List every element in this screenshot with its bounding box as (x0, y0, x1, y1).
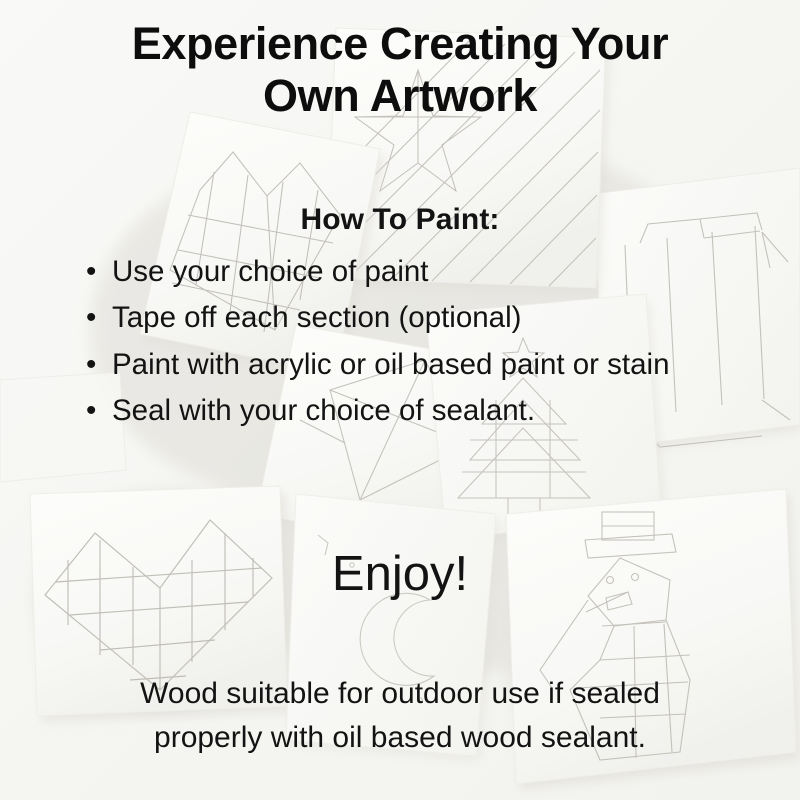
step-text: Paint with acrylic or oil based paint or… (112, 348, 670, 381)
footnote-line-2: properly with oil based wood sealant. (30, 716, 770, 760)
how-to-paint-steps: • Use your choice of paint • Tape off ea… (84, 250, 784, 435)
enjoy-heading: Enjoy! (40, 548, 760, 602)
bullet-icon: • (86, 343, 96, 387)
list-item: • Tape off each section (optional) (84, 296, 784, 340)
list-item: • Paint with acrylic or oil based paint … (84, 343, 784, 387)
how-to-paint-heading: How To Paint: (40, 203, 760, 237)
step-text: Tape off each section (optional) (112, 301, 521, 334)
title-line-1: Experience Creating Your (132, 18, 668, 69)
bullet-icon: • (86, 296, 96, 340)
poster-text-layer: Experience Creating Your Own Artwork How… (0, 0, 800, 800)
title-line-2: Own Artwork (263, 70, 537, 121)
list-item: • Use your choice of paint (84, 250, 784, 294)
list-item: • Seal with your choice of sealant. (84, 389, 784, 433)
page-title: Experience Creating Your Own Artwork (40, 18, 760, 122)
footnote-line-1: Wood suitable for outdoor use if sealed (30, 672, 770, 716)
step-text: Use your choice of paint (112, 255, 428, 288)
footnote: Wood suitable for outdoor use if sealed … (30, 672, 770, 761)
bullet-icon: • (86, 250, 96, 294)
step-text: Seal with your choice of sealant. (112, 394, 535, 427)
poster-canvas: Experience Creating Your Own Artwork How… (0, 0, 800, 800)
bullet-icon: • (86, 389, 96, 433)
